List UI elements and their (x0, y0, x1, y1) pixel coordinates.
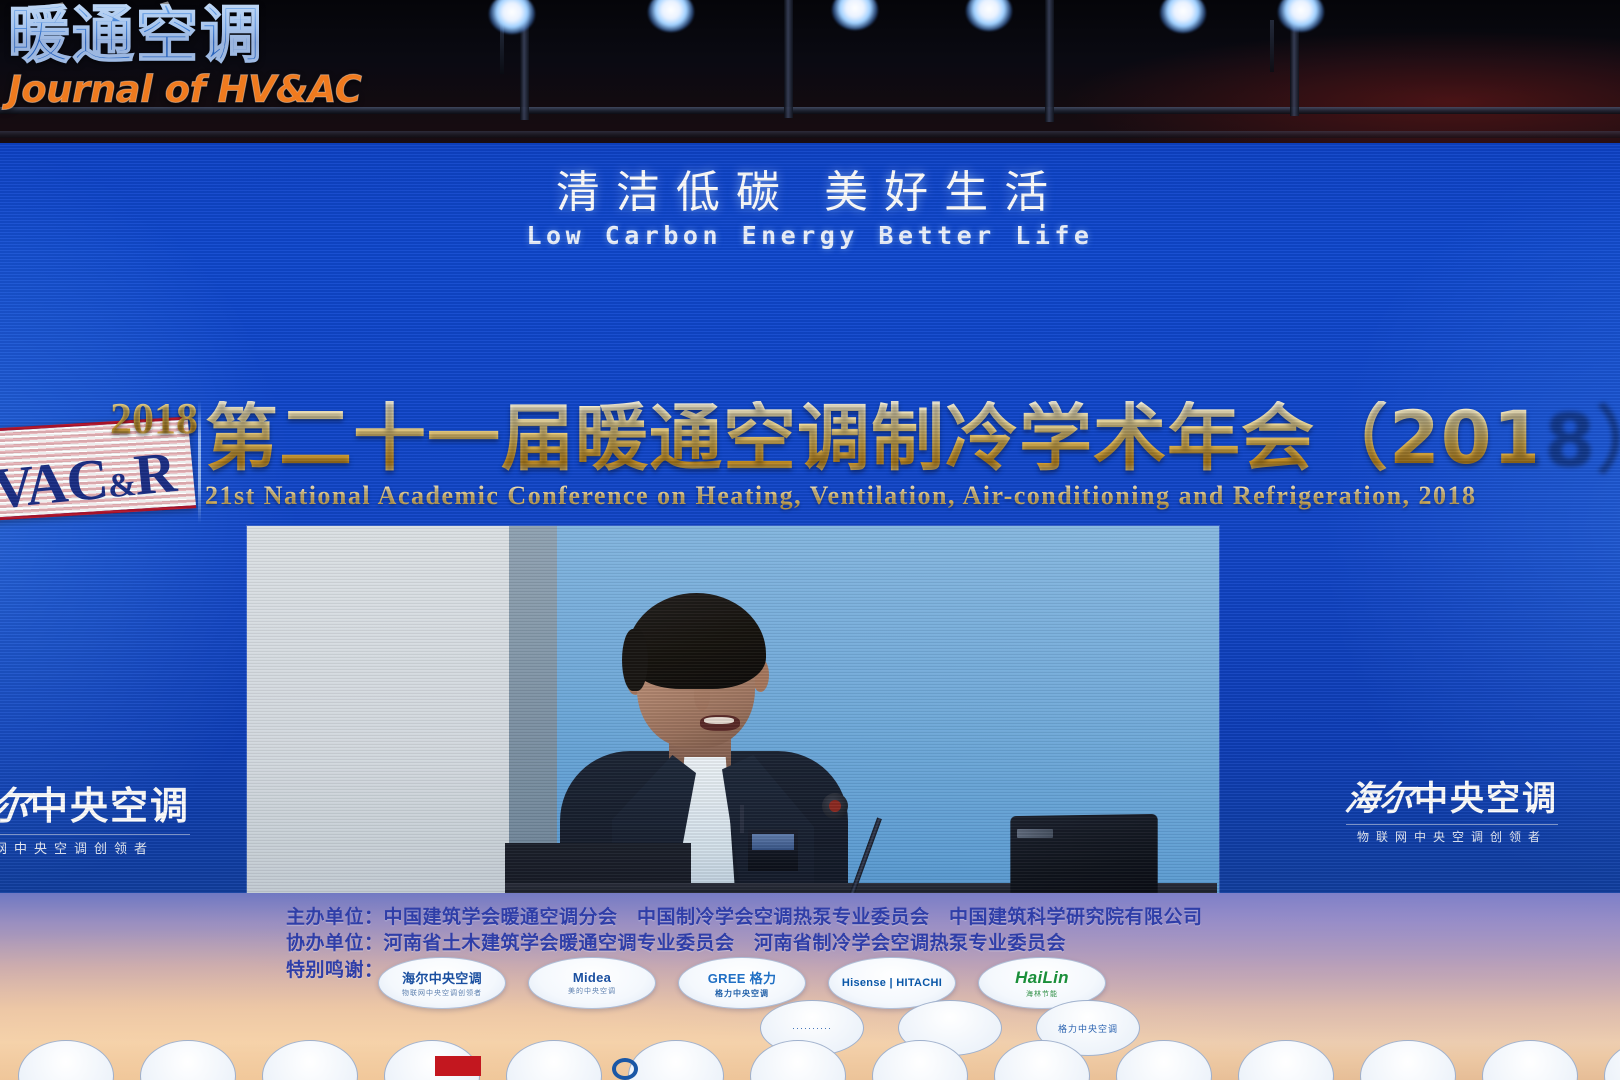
sponsor-row-bottom-partial (18, 1040, 1620, 1080)
stage-light-5 (1160, 0, 1206, 33)
lamp-stem-2 (1270, 20, 1274, 72)
transmitter-antenna (740, 805, 744, 833)
sponsor-bottom-9[interactable] (994, 1040, 1090, 1080)
haier-logo-right: 海尔中央空调 物联网中央空调创领者 (1346, 771, 1558, 845)
transmitter-display (752, 834, 794, 850)
sponsor-gree-tagline: 格力中央空调 (715, 988, 769, 999)
slogan-english: Low Carbon Energy Better Life (0, 221, 1620, 250)
sponsor-gree-name: GREE 格力 (708, 968, 777, 987)
sponsor-bottom-1[interactable] (18, 1040, 114, 1080)
hvacr-letter-amp: & (106, 466, 137, 505)
sponsor-bottom-8[interactable] (872, 1040, 968, 1080)
sponsor-partial-c-text: 格力中央空调 (1058, 1022, 1118, 1035)
sponsor-bottom-14[interactable] (1604, 1040, 1620, 1080)
sponsor-bottom-11[interactable] (1238, 1040, 1334, 1080)
truss-vertical-2 (784, 0, 793, 118)
haier-tagline-right: 物联网中央空调创领者 (1346, 824, 1558, 845)
feed-content-layer (247, 383, 1219, 895)
stage-light-6 (1278, 0, 1324, 32)
stage-light-3 (832, 0, 878, 30)
sponsor-bottom-10[interactable] (1116, 1040, 1212, 1080)
sponsor-hisense-name: Hisense | HITACHI (842, 977, 942, 989)
lighting-truss-horizontal-2 (0, 131, 1620, 138)
hvacr-letter-a: A (23, 449, 70, 518)
conference-slogan: 清洁低碳 美好生活 Low Carbon Energy Better Life (0, 168, 1620, 250)
haier-mark-left: 海尔 (0, 775, 34, 830)
stage-light-2 (648, 0, 694, 32)
journal-name-chinese: 暖通空调 (8, 4, 388, 66)
sponsor-bottom-13[interactable] (1482, 1040, 1578, 1080)
speaker-mouth (700, 715, 740, 731)
sponsor-midea[interactable]: Midea 美的中央空调 (528, 957, 656, 1009)
host-organizations-line: 主办单位：中国建筑学会暖通空调分会 中国制冷学会空调热泵专业委员会 中国建筑科学… (286, 902, 1203, 929)
special-thanks-label: 特别鸣谢： (286, 955, 384, 982)
sponsor-bottom-5[interactable] (506, 1040, 602, 1080)
microphone-head (822, 793, 848, 819)
truss-vertical-3 (1045, 0, 1054, 122)
title-divider-rule (198, 401, 201, 523)
haier-text-left: 中央空调 (30, 786, 190, 828)
sponsor-midea-tagline: 美的中央空调 (568, 986, 616, 996)
host-orgs: 中国建筑学会暖通空调分会 中国制冷学会空调热泵专业委员会 中国建筑科学研究院有限… (384, 907, 1203, 928)
hvacr-letter-c: C (63, 446, 110, 515)
sponsor-bottom-6[interactable] (628, 1040, 724, 1080)
hvacr-logo-badge: 2018 HVAC&R 78 (0, 396, 192, 524)
journal-watermark: 暖通空调 Journal of HV&AC (8, 4, 388, 111)
led-backdrop-screen: 清洁低碳 美好生活 Low Carbon Energy Better Life … (0, 143, 1620, 905)
coorg-label: 协办单位： (286, 933, 384, 954)
haier-tagline-left: 物联网中央空调创领者 (0, 834, 190, 857)
sponsor-midea-name: Midea (573, 970, 611, 985)
wireless-transmitter (748, 829, 798, 871)
speaker-hair (627, 593, 766, 689)
sponsor-haier[interactable]: 海尔中央空调 物联网中央空调创领者 (378, 957, 506, 1009)
sponsor-partial-a-text: ·········· (792, 1023, 832, 1033)
sponsor-bottom-7[interactable] (750, 1040, 846, 1080)
haier-mark-right: 海尔 (1343, 771, 1418, 820)
host-label: 主办单位： (286, 907, 384, 928)
laptop-lid (1010, 814, 1157, 895)
sponsor-bottom-3[interactable] (262, 1040, 358, 1080)
sponsor-haier-name: 海尔中央空调 (402, 968, 482, 987)
sponsor-hailin-name: HaiLin (1015, 968, 1069, 988)
coorganizer-line: 协办单位：河南省土木建筑学会暖通空调专业委员会 河南省制冷学会空调热泵专业委员会 (286, 928, 1066, 955)
sponsor-hailin-tagline: 海林节能 (1026, 989, 1058, 999)
thinkpad-logo (1017, 829, 1053, 838)
stage-light-4 (966, 0, 1012, 31)
coorg-orgs: 河南省土木建筑学会暖通空调专业委员会 河南省制冷学会空调热泵专业委员会 (384, 933, 1067, 954)
sponsor-bottom-blue-mark (612, 1058, 638, 1080)
haier-text-right: 中央空调 (1414, 780, 1558, 818)
sponsor-bottom-red-mark (435, 1056, 481, 1076)
slogan-chinese: 清洁低碳 美好生活 (0, 168, 1620, 219)
sponsor-bottom-2[interactable] (140, 1040, 236, 1080)
hvacr-letter-r: R (131, 439, 178, 508)
journal-name-english: Journal of HV&AC (8, 68, 388, 111)
sponsor-haier-tagline: 物联网中央空调创领者 (402, 988, 482, 998)
haier-logo-left: 海尔中央空调 物联网中央空调创领者 (0, 775, 190, 857)
sponsor-bottom-12[interactable] (1360, 1040, 1456, 1080)
